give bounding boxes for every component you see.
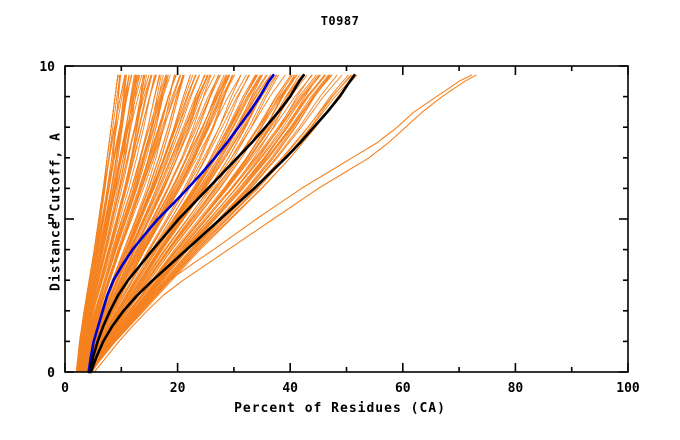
x-axis-label: Percent of Residues (CA)	[0, 401, 680, 416]
x-tick-label: 100	[616, 381, 640, 396]
chart-figure: T0987 0204060801000510 Percent of Residu…	[0, 0, 680, 440]
y-axis-label: Distance Cutoff, A	[49, 62, 64, 362]
x-tick-label: 40	[282, 381, 298, 396]
x-tick-label: 20	[170, 381, 186, 396]
x-tick-label: 80	[508, 381, 524, 396]
y-tick-label: 0	[47, 366, 55, 381]
x-tick-label: 0	[61, 381, 69, 396]
x-tick-label: 60	[395, 381, 411, 396]
plot-canvas: 0204060801000510	[0, 0, 680, 440]
